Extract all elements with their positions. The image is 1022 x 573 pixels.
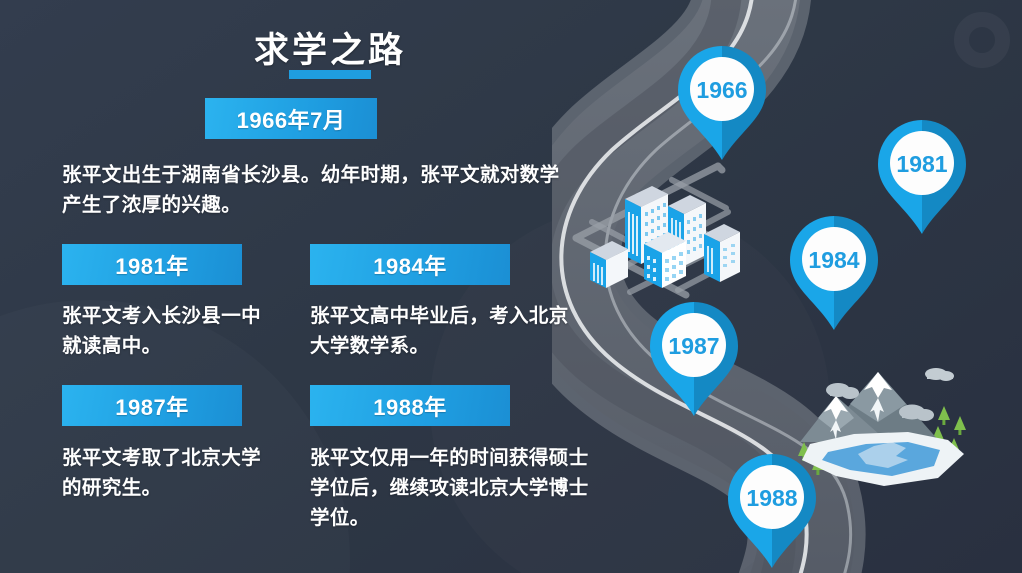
map-pin-1984[interactable]: 1984 (786, 212, 882, 332)
timeline-text-1987: 张平文考取了北京大学的研究生。 (62, 443, 277, 503)
timeline-text-1988: 张平文仅用一年的时间获得硕士学位后，继续攻读北京大学博士学位。 (310, 443, 600, 533)
map-pin-1988[interactable]: 1988 (724, 450, 820, 570)
slide-canvas: 求学之路 1966年7月 张平文出生于湖南省长沙县。幼年时期，张平文就对数学产生… (0, 0, 1022, 573)
year-badge-1966: 1966年7月 (205, 98, 377, 139)
timeline-text-1984: 张平文高中毕业后，考入北京大学数学系。 (310, 301, 575, 361)
timeline-text-1981: 张平文考入长沙县一中就读高中。 (62, 301, 277, 361)
year-badge-1984: 1984年 (310, 244, 510, 285)
title-underline (289, 70, 371, 79)
timeline-content: 求学之路 1966年7月 张平文出生于湖南省长沙县。幼年时期，张平文就对数学产生… (0, 0, 600, 573)
year-badge-1988: 1988年 (310, 385, 510, 426)
map-pin-1966[interactable]: 1966 (674, 42, 770, 162)
year-badge-1987: 1987年 (62, 385, 242, 426)
timeline-text-1966: 张平文出生于湖南省长沙县。幼年时期，张平文就对数学产生了浓厚的兴趣。 (62, 160, 562, 220)
map-pin-1981[interactable]: 1981 (874, 116, 970, 236)
year-badge-1981: 1981年 (62, 244, 242, 285)
map-pin-1987[interactable]: 1987 (646, 298, 742, 418)
page-title: 求学之路 (254, 22, 406, 73)
